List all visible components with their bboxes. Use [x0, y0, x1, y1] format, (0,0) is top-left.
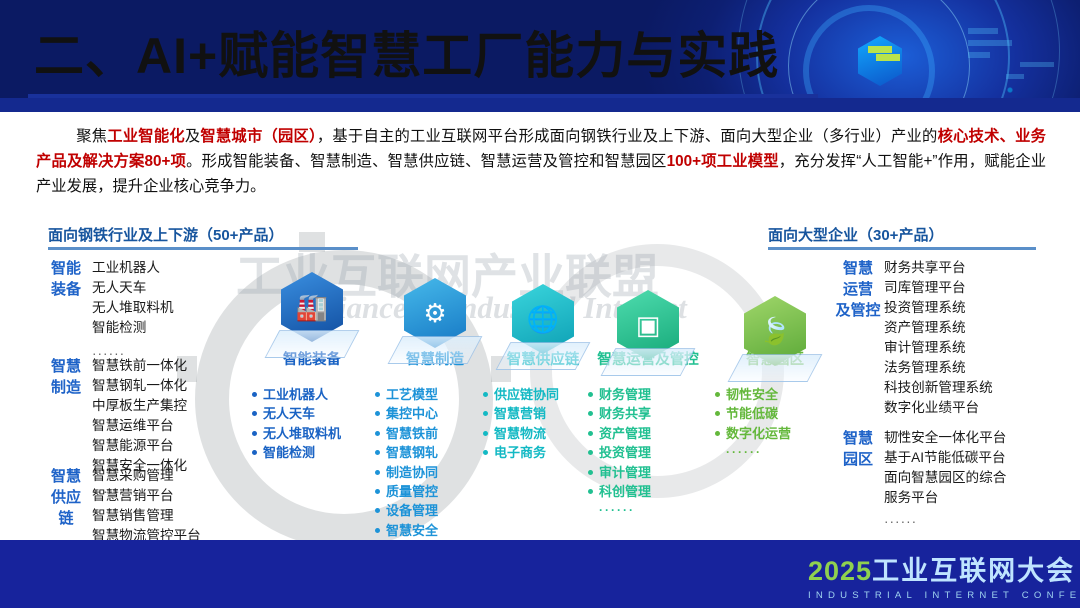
list-item: 科创管理 — [588, 482, 708, 501]
decorative-chip-2 — [968, 40, 1012, 46]
list-item: 无人堆取料机 — [252, 424, 372, 443]
list-item: 智慧铁前一体化 — [92, 356, 187, 376]
product-column: 🍃智慧园区韧性安全节能低碳数字化运营······ — [715, 296, 835, 476]
list-item: 投资管理 — [588, 443, 708, 462]
list-item: 无人天车 — [252, 404, 372, 423]
list-item: 智能检测 — [252, 443, 372, 462]
list-item: 节能低碳 — [715, 404, 835, 423]
list-item: 智慧铁前 — [375, 424, 495, 443]
list-item: 审计管理系统 — [884, 338, 993, 358]
list-item: 工艺模型 — [375, 385, 495, 404]
para-text-2: 及 — [185, 128, 201, 145]
section-header-right-underline — [768, 247, 1036, 250]
para-text-3: ，基于自主的工业互联网平台形成面向钢铁行业及上下游、面向大型企业（多行业）产业的 — [317, 128, 938, 145]
icon-base-plate — [388, 336, 483, 364]
product-column: 🌐智慧供应链供应链协同智慧营销智慧物流电子商务 — [483, 284, 603, 476]
list-item: 基于AI节能低碳平台 — [884, 448, 1006, 468]
list-item: 韧性安全一体化平台 — [884, 428, 1006, 448]
list-item: 智能检测 — [92, 318, 174, 338]
conference-logo-name-en: INDUSTRIAL INTERNET CONFERENCE — [808, 590, 1080, 601]
list-item: 数字化业绩平台 — [884, 398, 993, 418]
list-item: 电子商务 — [483, 443, 603, 462]
list-item: 智慧运维平台 — [92, 416, 187, 436]
list-item: 智慧安全 — [375, 521, 495, 540]
icon-base-plate — [601, 348, 696, 376]
list-item: 面向智慧园区的综合 — [884, 468, 1006, 488]
decorative-chip-5 — [1006, 74, 1024, 79]
right-sidebar-group-label: 智慧 园区 — [832, 428, 884, 532]
list-item: 工业机器人 — [252, 385, 372, 404]
list-ellipsis: ······ — [588, 501, 708, 520]
conference-logo: 2025工业互联网大会 INDUSTRIAL INTERNET CONFEREN… — [808, 549, 1080, 601]
list-item: 制造协同 — [375, 463, 495, 482]
list-item: 智慧物流 — [483, 424, 603, 443]
left-sidebar-group-label: 智能 装备 — [40, 258, 92, 364]
conference-logo-name-cn: 工业互联网大会 — [872, 556, 1075, 586]
para-highlight-1: 工业智能化 — [107, 128, 185, 145]
list-item: 智慧营销平台 — [92, 486, 201, 506]
page-title: 二、AI+赋能智慧工厂能力与实践 — [34, 16, 779, 88]
list-item: 数字化运营 — [715, 424, 835, 443]
list-item: 法务管理系统 — [884, 358, 993, 378]
list-item: 智慧能源平台 — [92, 436, 187, 456]
right-sidebar-group: 智慧 园区韧性安全一体化平台基于AI节能低碳平台面向智慧园区的综合服务平台···… — [832, 428, 1072, 532]
conference-logo-year: 2025 — [808, 556, 872, 586]
section-header-left: 面向钢铁行业及上下游（50+产品） — [48, 224, 283, 245]
section-header-right: 面向大型企业（30+产品） — [768, 224, 943, 245]
header-bottom-bar — [0, 98, 1080, 112]
slide-header: 二、AI+赋能智慧工厂能力与实践 — [0, 0, 1080, 112]
list-item: 科技创新管理系统 — [884, 378, 993, 398]
list-item: 审计管理 — [588, 463, 708, 482]
list-item: 投资管理系统 — [884, 298, 993, 318]
decorative-chip-3 — [968, 52, 990, 58]
list-item: 智慧采购管理 — [92, 466, 201, 486]
product-column: ▣智慧运营及管控财务管理财务共享资产管理投资管理审计管理科创管理······ — [588, 290, 708, 534]
left-sidebar-group: 智能 装备工业机器人无人天车无人堆取料机智能检测······ — [40, 258, 240, 364]
list-item: 设备管理 — [375, 501, 495, 520]
product-column-list: 供应链协同智慧营销智慧物流电子商务 — [483, 385, 603, 463]
list-item: 质量管控 — [375, 482, 495, 501]
list-item: 智慧营销 — [483, 404, 603, 423]
list-item: 智慧钢轧一体化 — [92, 376, 187, 396]
para-text-4: 。形成智能装备、智慧制造、智慧供应链、智慧运营及管控和智慧园区 — [186, 153, 666, 170]
list-item: 无人天车 — [92, 278, 174, 298]
product-column-list: 工业机器人无人天车无人堆取料机智能检测 — [252, 385, 372, 463]
product-column-list: 韧性安全节能低碳数字化运营······ — [715, 385, 835, 463]
list-item: 资产管理 — [588, 424, 708, 443]
icon-base-plate — [265, 330, 360, 358]
list-item: 资产管理系统 — [884, 318, 993, 338]
icon-base-plate — [496, 342, 591, 370]
section-header-left-underline — [48, 247, 358, 250]
list-ellipsis: ······ — [884, 512, 1006, 532]
decorative-chip-4 — [1020, 62, 1054, 67]
decorative-chip-1 — [968, 28, 998, 34]
list-item: 工业机器人 — [92, 258, 174, 278]
list-item: 集控中心 — [375, 404, 495, 423]
list-item: 财务共享 — [588, 404, 708, 423]
section-header-left-label: 面向钢铁行业及上下游（50+产品） — [48, 227, 283, 244]
right-sidebar-group-list: 韧性安全一体化平台基于AI节能低碳平台面向智慧园区的综合服务平台······ — [884, 428, 1006, 532]
list-item: 财务管理 — [588, 385, 708, 404]
list-ellipsis: ······ — [715, 443, 835, 462]
para-highlight-4: 100+项工业模型 — [667, 153, 779, 170]
intro-paragraph: 聚焦工业智能化及智慧城市（园区），基于自主的工业互联网平台形成面向钢铁行业及上下… — [36, 124, 1046, 199]
list-item: 无人堆取料机 — [92, 298, 174, 318]
list-item: 中厚板生产集控 — [92, 396, 187, 416]
icon-base-plate — [728, 354, 823, 382]
para-highlight-2: 智慧城市（园区） — [200, 128, 317, 145]
section-header-right-label: 面向大型企业（30+产品） — [768, 227, 943, 244]
list-item: 服务平台 — [884, 488, 1006, 508]
list-item: 智慧销售管理 — [92, 506, 201, 526]
right-sidebar-group-list: 财务共享平台司库管理平台投资管理系统资产管理系统审计管理系统法务管理系统科技创新… — [884, 258, 993, 442]
right-sidebar-group: 智慧 运营 及管控财务共享平台司库管理平台投资管理系统资产管理系统审计管理系统法… — [832, 258, 1072, 442]
list-item: 供应链协同 — [483, 385, 603, 404]
list-item: 司库管理平台 — [884, 278, 993, 298]
list-item: 智慧钢轧 — [375, 443, 495, 462]
para-text-1: 聚焦 — [76, 128, 107, 145]
product-column-list: 财务管理财务共享资产管理投资管理审计管理科创管理······ — [588, 385, 708, 521]
product-column: 🏭智能装备工业机器人无人天车无人堆取料机智能检测 — [252, 272, 372, 476]
left-sidebar-group-list: 工业机器人无人天车无人堆取料机智能检测······ — [92, 258, 174, 364]
list-item: 韧性安全 — [715, 385, 835, 404]
list-item: 财务共享平台 — [884, 258, 993, 278]
right-sidebar-group-label: 智慧 运营 及管控 — [832, 258, 884, 442]
